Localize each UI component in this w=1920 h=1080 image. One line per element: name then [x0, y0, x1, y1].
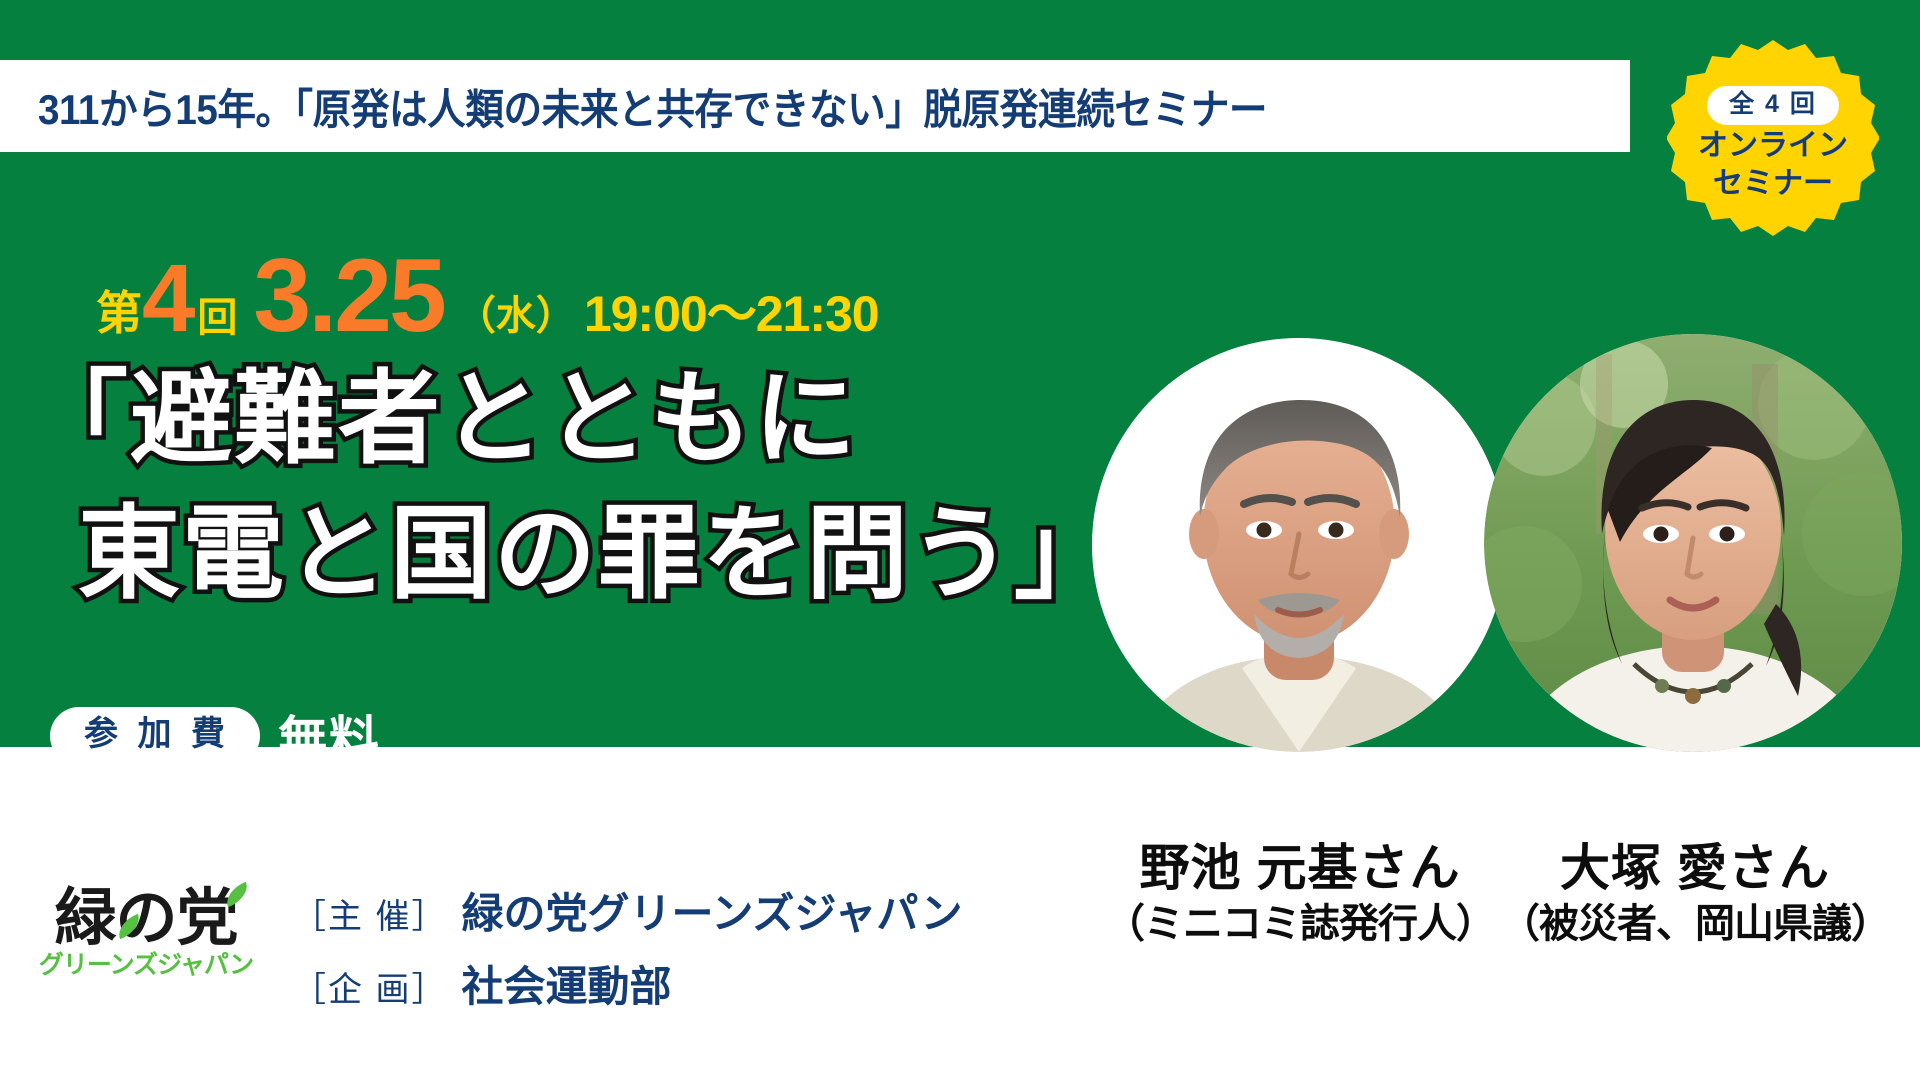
speaker-photo-otsuka	[1484, 334, 1902, 752]
organizer-tag-planner: ［企 画］	[292, 962, 447, 1011]
portrait-illustration-otsuka	[1484, 334, 1902, 752]
main-title-line-2: 東電と国の罪を問う」	[26, 487, 1086, 622]
portrait-illustration-noike	[1092, 338, 1506, 752]
logo-sub-label: グリーンズジャパン	[26, 952, 266, 980]
speaker-role-2: （被災者、岡山県議）	[1460, 900, 1920, 948]
fee-label: 参 加 費	[50, 707, 260, 764]
header-title: 311から15年。「原発は人類の未来と共存できない」脱原発連続セミナー	[38, 74, 1473, 138]
badge-line-seminar: セミナー	[1713, 166, 1833, 201]
greens-japan-logo: 緑の党 グリーンズジャパン	[26, 888, 266, 980]
seminar-poster: 311から15年。「原発は人類の未来と共存できない」脱原発連続セミナー 全 4 …	[0, 0, 1920, 1080]
organizer-row-planner: ［企 画］ 社会運動部	[292, 953, 963, 1014]
organizer-tag-host: ［主 催］	[292, 889, 447, 938]
fee-row: 参 加 費 無料	[50, 700, 380, 772]
organizer-row-host: ［主 催］ 緑の党グリーンズジャパン	[292, 880, 963, 941]
speaker-name-2: 大塚 愛さん	[1460, 840, 1920, 896]
main-title: 「避難者とともに 東電と国の罪を問う」	[26, 352, 1086, 621]
online-seminar-badge: 全 4 回 オンライン セミナー	[1667, 38, 1879, 250]
speaker-photo-noike	[1092, 338, 1506, 752]
green-top-strip	[0, 0, 1920, 60]
session-suffix: 回	[197, 285, 237, 343]
event-date: 3.25	[253, 250, 443, 344]
fee-value: 無料	[278, 700, 380, 772]
organizer-block: ［主 催］ 緑の党グリーンズジャパン ［企 画］ 社会運動部	[292, 880, 963, 1026]
badge-line-online: オンライン	[1698, 128, 1848, 163]
main-title-line-1: 「避難者とともに	[26, 352, 1086, 487]
logo-main-label: 緑の党	[54, 884, 237, 953]
badge-session-count: 全 4 回	[1707, 86, 1839, 125]
speaker-caption-2: 大塚 愛さん （被災者、岡山県議）	[1460, 840, 1920, 948]
logo-main-text: 緑の党	[54, 888, 237, 950]
event-day-of-week: （水）	[456, 283, 576, 341]
date-row: 第 4 回 3.25 （水） 19:00〜21:30	[96, 250, 879, 340]
organizer-value-planner: 社会運動部	[461, 953, 671, 1014]
session-prefix: 第	[96, 277, 140, 343]
organizer-value-host: 緑の党グリーンズジャパン	[461, 880, 962, 941]
session-number: 4	[142, 256, 195, 342]
event-time: 19:00〜21:30	[584, 274, 879, 346]
